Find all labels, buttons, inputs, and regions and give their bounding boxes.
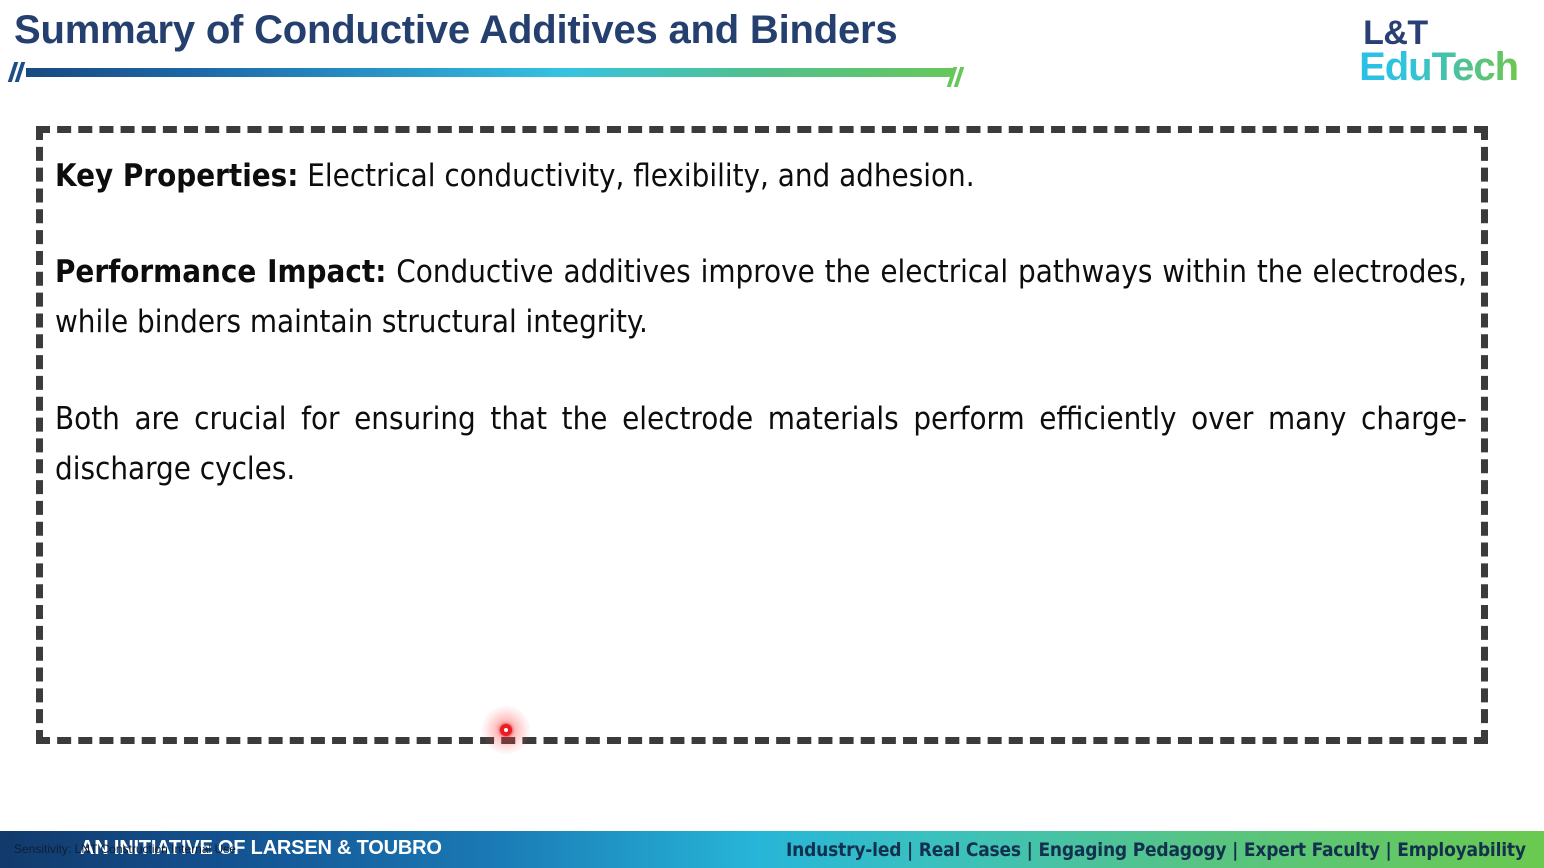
content-body: Key Properties: Electrical conductivity,… xyxy=(43,133,1481,494)
paragraph-performance-impact: Performance Impact: Conductive additives… xyxy=(55,247,1467,347)
rule-tick-right-icon xyxy=(949,67,969,89)
paragraph-conclusion: Both are crucial for ensuring that the e… xyxy=(55,394,1467,494)
content-box: Key Properties: Electrical conductivity,… xyxy=(36,126,1488,744)
footer-sensitivity-label: Sensitivity: LNT Construction Internal U… xyxy=(14,842,236,856)
paragraph-lead-performance-impact: Performance Impact: xyxy=(55,254,386,290)
cursor-dot-icon xyxy=(500,724,512,736)
rule-gradient-bar xyxy=(26,68,954,77)
footer-bar: AN INITIATIVE OF LARSEN & TOUBRO Sensiti… xyxy=(0,831,1544,868)
lt-edutech-logo: L&T EduTech xyxy=(1359,18,1518,86)
title-underline xyxy=(8,58,968,94)
page-title: Summary of Conductive Additives and Bind… xyxy=(14,8,897,53)
paragraph-key-properties: Key Properties: Electrical conductivity,… xyxy=(55,151,1467,201)
paragraph-lead-key-properties: Key Properties: xyxy=(55,158,298,194)
paragraph-text-conclusion: Both are crucial for ensuring that the e… xyxy=(55,401,1467,487)
logo-edutech-text: EduTech xyxy=(1359,49,1518,86)
paragraph-text-key-properties: Electrical conductivity, flexibility, an… xyxy=(298,158,974,194)
footer-tagline-text: Industry-led | Real Cases | Engaging Ped… xyxy=(786,839,1526,861)
